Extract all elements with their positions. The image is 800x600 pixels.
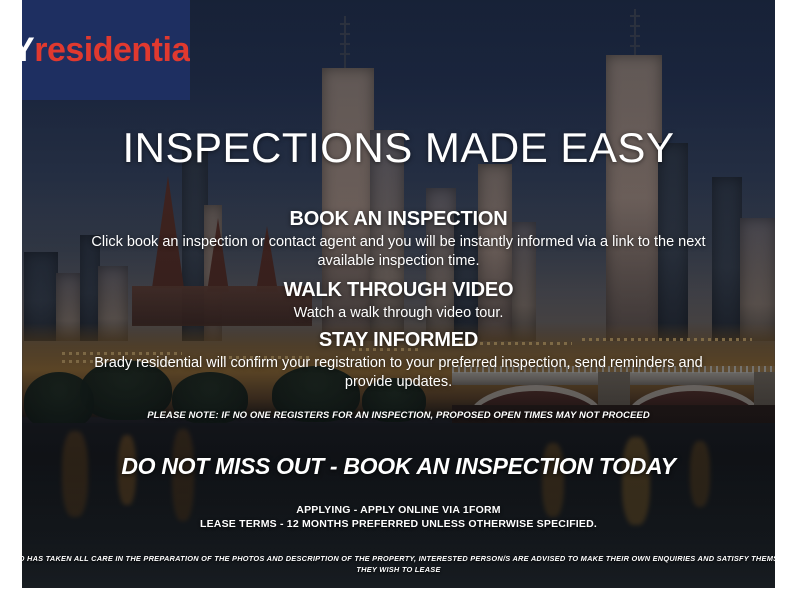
section-book-an-inspection: BOOK AN INSPECTION Click book an inspect… xyxy=(22,208,775,270)
disclaimer-line-2: THEY WISH TO LEASE xyxy=(22,564,775,575)
please-note-text: PLEASE NOTE: IF NO ONE REGISTERS FOR AN … xyxy=(22,410,775,421)
page-canvas: DYresidential INSPECTIONS MADE EASY BOOK… xyxy=(0,0,800,600)
section-walk-through-video: WALK THROUGH VIDEO Watch a walk through … xyxy=(22,279,775,323)
section-heading-informed: STAY INFORMED xyxy=(22,329,775,352)
section-heading-book: BOOK AN INSPECTION xyxy=(22,208,775,231)
section-heading-walk: WALK THROUGH VIDEO xyxy=(22,279,775,302)
logo-brady-text: DY xyxy=(22,31,34,69)
section-body-walk: Watch a walk through video tour. xyxy=(22,304,775,323)
brady-residential-logo[interactable]: DYresidential xyxy=(22,0,190,100)
disclaimer-line-1: TY LTD HAS TAKEN ALL CARE IN THE PREPARA… xyxy=(22,554,775,563)
call-to-action-text: DO NOT MISS OUT - BOOK AN INSPECTION TOD… xyxy=(22,453,775,480)
section-stay-informed: STAY INFORMED Brady residential will con… xyxy=(22,329,775,391)
section-body-book: Click book an inspection or contact agen… xyxy=(22,233,775,270)
section-body-informed: Brady residential will confirm your regi… xyxy=(22,354,775,391)
lease-terms-line: LEASE TERMS - 12 MONTHS PREFERRED UNLESS… xyxy=(22,517,775,531)
logo-wordmark: DYresidential xyxy=(22,33,190,67)
applying-info: APPLYING - APPLY ONLINE VIA 1FORM LEASE … xyxy=(22,503,775,531)
legal-disclaimer: TY LTD HAS TAKEN ALL CARE IN THE PREPARA… xyxy=(22,553,775,575)
logo-residential-text: residential xyxy=(34,31,190,69)
page-title: INSPECTIONS MADE EASY xyxy=(22,124,775,172)
applying-line: APPLYING - APPLY ONLINE VIA 1FORM xyxy=(22,503,775,517)
inspection-banner-image: DYresidential INSPECTIONS MADE EASY BOOK… xyxy=(22,0,775,588)
